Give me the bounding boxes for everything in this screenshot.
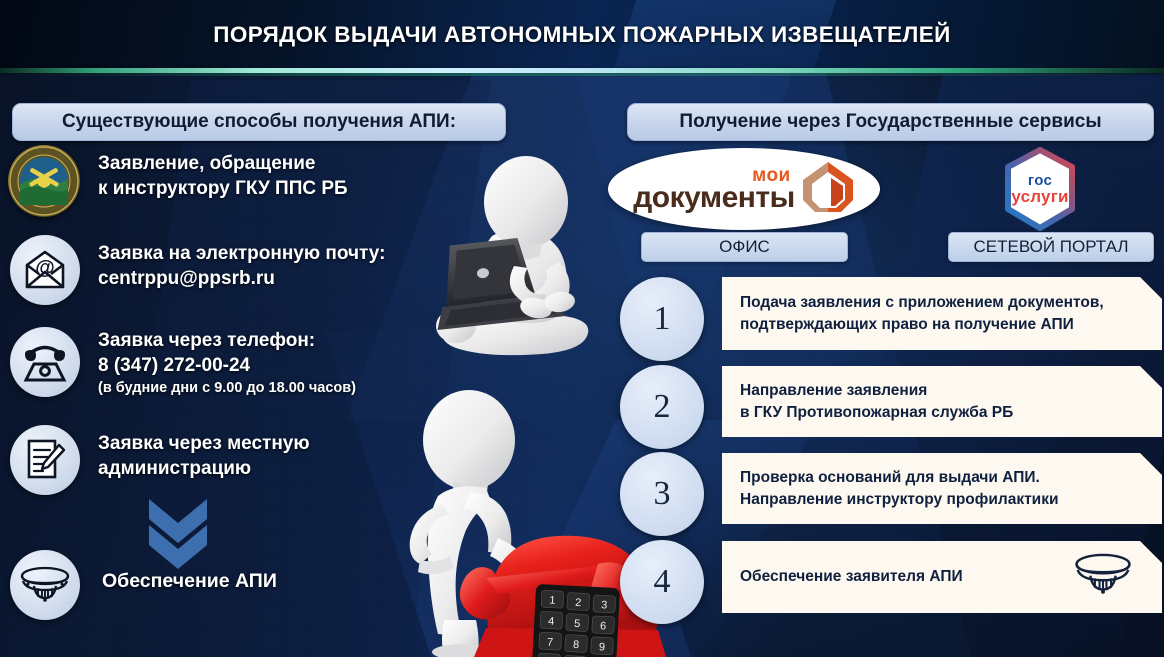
moi-dokumenty-emblem-icon	[801, 160, 855, 218]
left-item-email: @ Заявка на электронную почту: centrppu@…	[10, 235, 385, 305]
step-text-3: Проверка оснований для выдачи АПИ. Напра…	[722, 467, 1104, 510]
step-line1: Обеспечение заявителя АПИ	[740, 568, 963, 585]
left-item-line1: Заявка через местную	[98, 433, 310, 454]
telephone-icon	[10, 327, 80, 397]
left-item-line2: администрацию	[98, 458, 251, 479]
step-line1: Проверка оснований для выдачи АПИ.	[740, 469, 1040, 486]
svg-text:3: 3	[601, 599, 608, 611]
step-line1: Направление заявления	[740, 382, 927, 399]
gosuslugi-logo: гос услуги	[998, 146, 1082, 232]
step-line2: подтверждающих право на получение АПИ	[740, 316, 1074, 333]
tag-network-portal: СЕТЕВОЙ ПОРТАЛ	[948, 232, 1154, 262]
left-result-item: Обеспечение АПИ	[10, 550, 277, 620]
left-result-label: Обеспечение АПИ	[102, 570, 277, 593]
step-line2: в ГКУ Противопожарная служба РБ	[740, 404, 1013, 421]
left-item-application: Заявление, обращение к инструктору ГКУ П…	[8, 145, 348, 217]
left-item-line1: Заявка на электронную почту:	[98, 243, 385, 264]
gosuslugi-top-word: гос	[1028, 173, 1052, 188]
step-box-2: Направление заявления в ГКУ Противопожар…	[722, 366, 1162, 437]
step-text-1: Подача заявления с приложением документо…	[722, 292, 1150, 335]
svg-text:2: 2	[575, 597, 582, 609]
figure-person-with-laptop	[418, 150, 638, 375]
email-envelope-icon: @	[10, 235, 80, 305]
left-panel-heading: Существующие способы получения АПИ:	[12, 103, 506, 141]
left-item-line2: к инструктору ГКУ ППС РБ	[98, 178, 348, 199]
left-item-phone-number: 8 (347) 272-00-24	[98, 355, 250, 376]
moi-dokumenty-logo: мои документы	[608, 148, 880, 230]
left-item-text: Заявка через местную администрацию	[98, 431, 310, 482]
step-line1: Подача заявления с приложением документо…	[740, 294, 1104, 311]
step-box-3: Проверка оснований для выдачи АПИ. Напра…	[722, 453, 1162, 524]
step-text-4: Обеспечение заявителя АПИ	[722, 566, 1083, 588]
svg-text:5: 5	[574, 618, 581, 630]
step-number-3: 3	[620, 452, 704, 536]
step-line2: Направление инструктору профилактики	[740, 491, 1058, 508]
svg-text:6: 6	[600, 620, 607, 632]
svg-text:4: 4	[548, 616, 555, 628]
left-item-administration: Заявка через местную администрацию	[10, 425, 310, 495]
svg-text:7: 7	[547, 637, 554, 649]
step-number-1: 1	[620, 277, 704, 361]
step-box-4: Обеспечение заявителя АПИ	[722, 541, 1162, 613]
ppsrb-emblem-icon	[8, 145, 80, 217]
right-panel-heading: Получение через Государственные сервисы	[627, 103, 1154, 141]
gosuslugi-bottom-word: услуги	[1011, 188, 1068, 205]
document-pen-icon	[10, 425, 80, 495]
left-item-phone-hours: (в будние дни с 9.00 до 18.00 часов)	[98, 379, 356, 398]
left-item-text: Заявление, обращение к инструктору ГКУ П…	[98, 151, 348, 202]
step-number-4: 4	[620, 540, 704, 624]
step-text-2: Направление заявления в ГКУ Противопожар…	[722, 380, 1059, 423]
step-number-2: 2	[620, 365, 704, 449]
tag-office: ОФИС	[641, 232, 848, 262]
smoke-detector-icon	[10, 550, 80, 620]
page-title: ПОРЯДОК ВЫДАЧИ АВТОНОМНЫХ ПОЖАРНЫХ ИЗВЕЩ…	[0, 0, 1164, 70]
moi-dokumenty-wordmark: мои документы	[633, 166, 794, 213]
left-item-text: Заявка через телефон: 8 (347) 272-00-24 …	[98, 329, 356, 398]
moi-dokumenty-bottom-word: документы	[633, 183, 794, 213]
header-divider-glow	[0, 73, 1164, 76]
smoke-detector-icon	[1072, 552, 1134, 603]
step-box-1: Подача заявления с приложением документо…	[722, 277, 1162, 350]
left-item-text: Заявка на электронную почту: centrppu@pp…	[98, 241, 385, 292]
svg-text:9: 9	[599, 641, 606, 653]
infographic-slide: ПОРЯДОК ВЫДАЧИ АВТОНОМНЫХ ПОЖАРНЫХ ИЗВЕЩ…	[0, 0, 1164, 657]
left-item-telephone: Заявка через телефон: 8 (347) 272-00-24 …	[10, 327, 356, 398]
left-item-line1: Заявка через телефон:	[98, 330, 315, 351]
left-item-email-address: centrppu@ppsrb.ru	[98, 268, 275, 289]
svg-text:1: 1	[549, 595, 556, 607]
left-item-line1: Заявление, обращение	[98, 153, 316, 174]
svg-text:8: 8	[573, 639, 580, 651]
svg-text:@: @	[35, 257, 55, 279]
